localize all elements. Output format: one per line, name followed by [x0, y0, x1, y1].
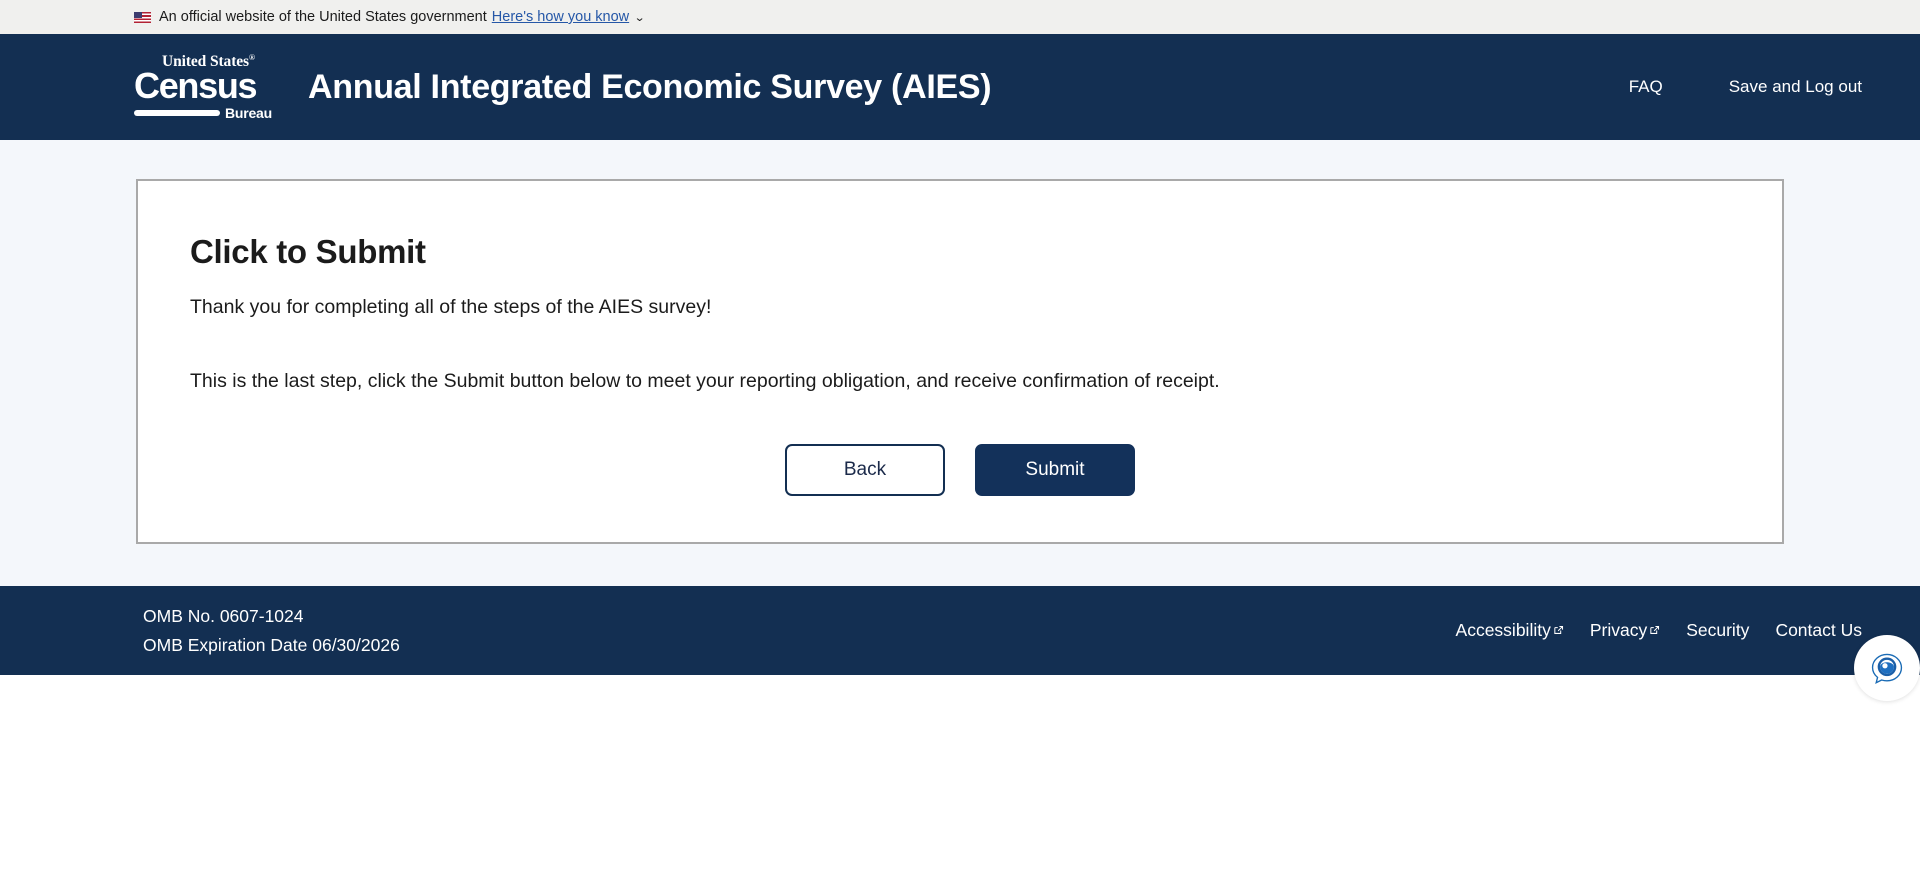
footer-link-privacy-label: Privacy — [1590, 620, 1647, 641]
omb-expiration-date: OMB Expiration Date 06/30/2026 — [143, 631, 400, 660]
save-and-log-out-link[interactable]: Save and Log out — [1729, 77, 1862, 97]
omb-number: OMB No. 0607-1024 — [143, 602, 400, 631]
logo-census-text: Census — [134, 68, 256, 104]
back-button[interactable]: Back — [785, 444, 945, 496]
chevron-down-icon[interactable]: ⌄ — [634, 11, 646, 24]
logo-bar — [134, 110, 220, 116]
logo-bureau-row: Bureau — [134, 106, 272, 120]
us-flag-icon — [134, 12, 151, 23]
card-heading: Click to Submit — [190, 233, 1730, 271]
omb-info: OMB No. 0607-1024 OMB Expiration Date 06… — [143, 602, 400, 660]
submit-card: Click to Submit Thank you for completing… — [136, 179, 1784, 544]
logo-trademark: ® — [249, 53, 255, 62]
footer-link-security[interactable]: Security — [1686, 620, 1749, 641]
header-nav: FAQ Save and Log out — [1629, 77, 1862, 97]
site-footer: OMB No. 0607-1024 OMB Expiration Date 06… — [0, 586, 1920, 675]
gov-banner-text: An official website of the United States… — [159, 9, 487, 25]
footer-link-accessibility-label: Accessibility — [1456, 620, 1551, 641]
submit-button[interactable]: Submit — [975, 444, 1135, 496]
footer-links: Accessibility Privacy Security Contact U… — [1456, 620, 1862, 641]
chat-bubble-icon — [1870, 651, 1904, 685]
census-bureau-logo[interactable]: United States® Census Bureau — [134, 54, 272, 121]
heres-how-you-know-link[interactable]: Here's how you know — [492, 9, 629, 25]
chat-widget-button[interactable] — [1854, 635, 1920, 701]
card-paragraph-2: This is the last step, click the Submit … — [190, 367, 1730, 395]
external-link-icon — [1649, 625, 1660, 636]
footer-link-contact-us[interactable]: Contact Us — [1775, 620, 1862, 641]
logo-bureau-text: Bureau — [225, 106, 272, 120]
page-body: Click to Submit Thank you for completing… — [0, 140, 1920, 586]
faq-link[interactable]: FAQ — [1629, 77, 1663, 97]
card-paragraph-1: Thank you for completing all of the step… — [190, 293, 1730, 321]
site-header: United States® Census Bureau Annual Inte… — [0, 34, 1920, 140]
card-button-row: Back Submit — [190, 444, 1730, 496]
below-fold-area — [0, 675, 1920, 879]
footer-link-privacy[interactable]: Privacy — [1590, 620, 1660, 641]
page-title: Annual Integrated Economic Survey (AIES) — [308, 68, 991, 107]
gov-banner: An official website of the United States… — [0, 0, 1920, 34]
external-link-icon — [1553, 625, 1564, 636]
footer-link-accessibility[interactable]: Accessibility — [1456, 620, 1564, 641]
